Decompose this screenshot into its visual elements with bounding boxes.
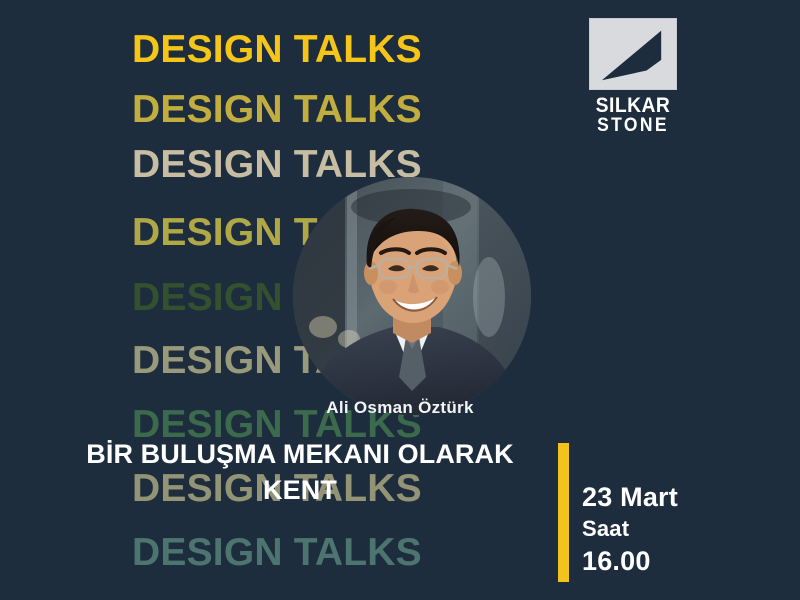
background-text-row: DESIGN TALKS bbox=[132, 90, 422, 129]
background-text-row: DESIGN TALKS bbox=[132, 533, 422, 572]
logo-stone-text: STONE bbox=[593, 116, 674, 136]
silkar-stone-logo: SILKAR STONE bbox=[589, 18, 681, 138]
logo-mark-icon bbox=[589, 18, 677, 90]
logo-silkar-text: SILKAR bbox=[593, 96, 674, 116]
accent-bar bbox=[558, 443, 569, 582]
background-text-row: DESIGN TALKS bbox=[132, 145, 422, 184]
speaker-portrait bbox=[293, 177, 531, 415]
event-date-text: 23 Mart Saat 16.00 bbox=[582, 480, 678, 582]
logo-wordmark: SILKAR STONE bbox=[589, 96, 677, 136]
event-time: 16.00 bbox=[582, 544, 678, 579]
background-text-row: DESIGN TALKS bbox=[132, 30, 422, 69]
event-date-block: 23 Mart Saat 16.00 bbox=[558, 443, 678, 582]
event-date: 23 Mart bbox=[582, 480, 678, 515]
event-time-label: Saat bbox=[582, 515, 678, 544]
talk-title: BİR BULUŞMA MEKANI OLARAK KENT bbox=[60, 437, 540, 509]
poster-canvas: DESIGN TALKSDESIGN TALKSDESIGN TALKSDESI… bbox=[0, 0, 800, 600]
speaker-name: Ali Osman Öztürk bbox=[0, 398, 800, 418]
